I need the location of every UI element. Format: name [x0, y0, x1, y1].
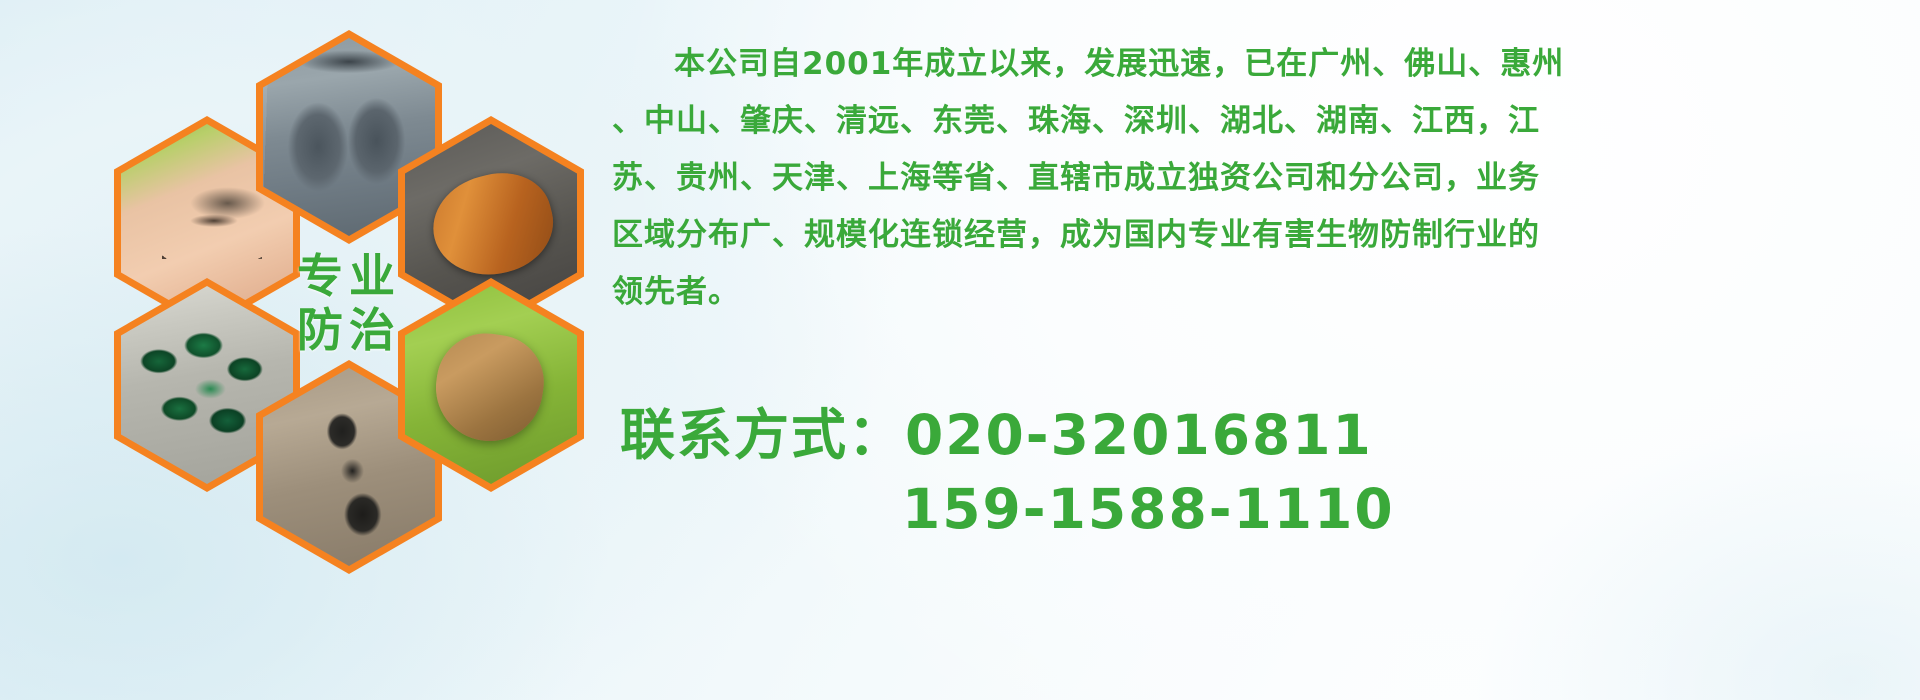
badge-text: 专业防治 — [297, 249, 401, 358]
contact-phone-secondary[interactable]: 159-1588-1110 — [620, 472, 1860, 546]
company-intro-paragraph: 本公司自2001年成立以来，发展迅速，已在广州、佛山、惠州 、中山、肇庆、清远、… — [612, 36, 1892, 321]
intro-line-2: 、中山、肇庆、清远、东莞、珠海、深圳、湖北、湖南、江西，江 — [612, 93, 1892, 150]
intro-line-1: 本公司自2001年成立以来，发展迅速，已在广州、佛山、惠州 — [612, 36, 1892, 93]
intro-line-4: 区域分布广、规模化连锁经营，成为国内专业有害生物防制行业的 — [612, 207, 1892, 264]
promo-banner: 专业防治 本公司自2001年成立以来，发展迅速，已在广州、佛山、惠州 、中山、肇… — [0, 0, 1920, 700]
intro-line-5: 领先者。 — [612, 264, 1892, 321]
badge-line-2: 防治 — [297, 303, 401, 357]
contact-phone-primary[interactable]: 联系方式：020-32016811 — [620, 398, 1860, 472]
badge-line-1: 专业 — [297, 249, 401, 303]
intro-line-3: 苏、贵州、天津、上海等省、直辖市成立独资公司和分公司，业务 — [612, 150, 1892, 207]
contact-block: 联系方式：020-32016811 159-1588-1110 — [620, 398, 1860, 546]
hexagon-photo-cluster: 专业防治 — [88, 8, 588, 568]
